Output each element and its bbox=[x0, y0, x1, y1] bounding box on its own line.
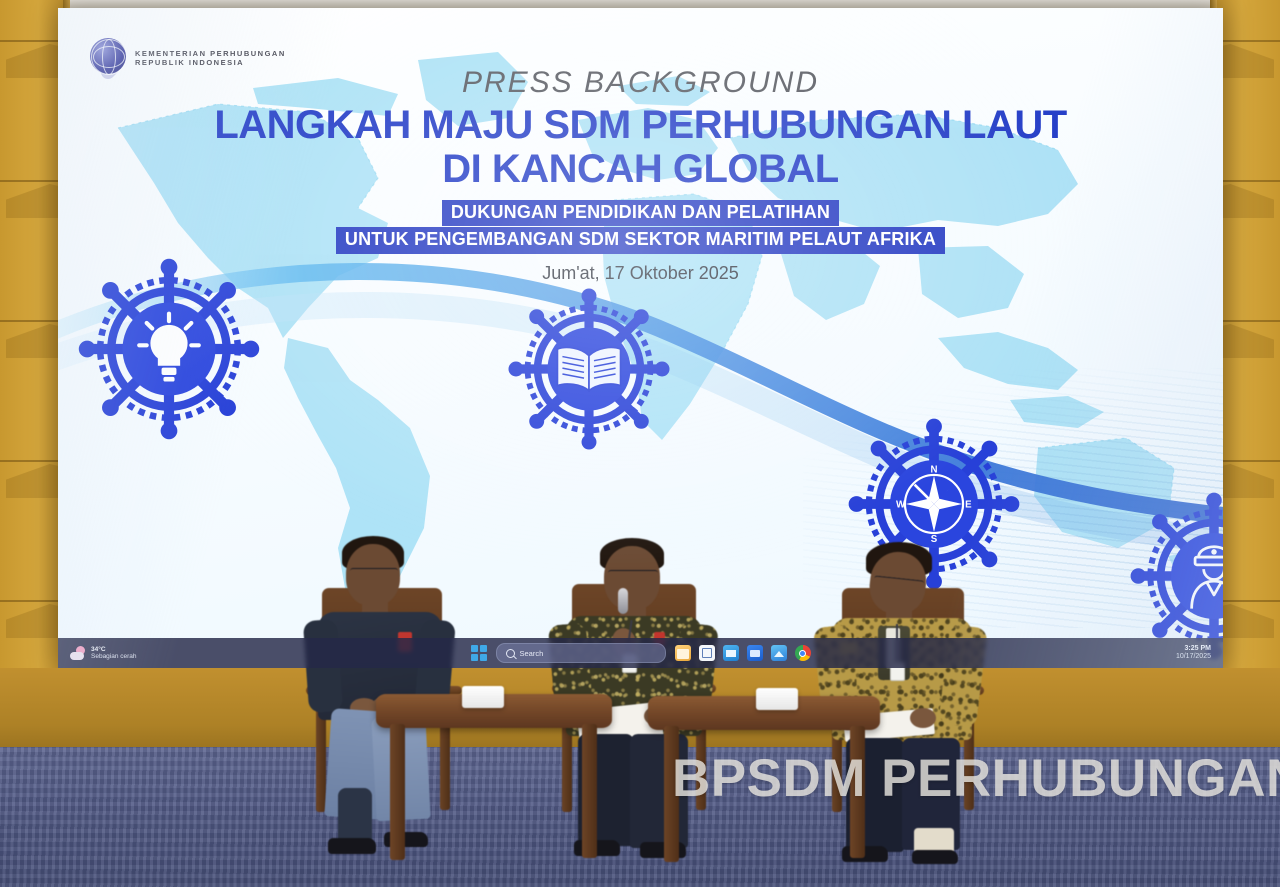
search-placeholder: Search bbox=[520, 649, 544, 658]
search-input[interactable]: Search bbox=[496, 643, 666, 663]
svg-text:E: E bbox=[965, 500, 972, 511]
svg-text:W: W bbox=[896, 500, 906, 511]
svg-text:N: N bbox=[931, 464, 938, 475]
screenshot-stage: KEMENTERIAN PERHUBUNGAN REPUBLIK INDONES… bbox=[0, 0, 1280, 887]
slide-eyebrow: PRESS BACKGROUND bbox=[58, 66, 1223, 100]
mail-icon[interactable] bbox=[723, 645, 739, 661]
tissue-box-left bbox=[462, 686, 504, 708]
weather-temperature: 34°C bbox=[91, 646, 137, 653]
microphone bbox=[618, 588, 628, 614]
clock-time: 3:25 PM bbox=[1176, 645, 1211, 653]
slide-highlight-line1: DUKUNGAN PENDIDIKAN DAN PELATIHAN bbox=[442, 200, 839, 227]
search-icon bbox=[506, 649, 515, 658]
slide-title-line1: LANGKAH MAJU SDM PERHUBUNGAN LAUT bbox=[58, 104, 1223, 146]
taskbar-weather-widget[interactable]: 34°C Sebagian cerah bbox=[70, 646, 137, 660]
watermark: BPSDM PERHUBUNGAN bbox=[672, 748, 1280, 809]
slide-highlight-line2: UNTUK PENGEMBANGAN SDM SEKTOR MARITIM PE… bbox=[336, 227, 945, 254]
chrome-icon[interactable] bbox=[795, 645, 811, 661]
slide-title-line2: DI KANCAH GLOBAL bbox=[58, 146, 1223, 193]
photos-icon[interactable] bbox=[771, 645, 787, 661]
microsoft-store-icon[interactable] bbox=[699, 645, 715, 661]
taskbar-app-icons[interactable] bbox=[675, 645, 811, 661]
start-icon[interactable] bbox=[471, 645, 487, 661]
clock-date: 10/17/2025 bbox=[1176, 653, 1211, 661]
slide-title-block: PRESS BACKGROUND LANGKAH MAJU SDM PERHUB… bbox=[58, 66, 1223, 284]
ship-wheel-lightbulb bbox=[76, 256, 262, 442]
weather-condition: Sebagian cerah bbox=[91, 653, 137, 660]
taskbar-clock[interactable]: 3:25 PM 10/17/2025 bbox=[1176, 645, 1211, 661]
tissue-box-right bbox=[756, 688, 798, 710]
ship-wheel-sailor bbox=[1128, 490, 1223, 662]
partly-cloudy-icon bbox=[70, 646, 86, 660]
side-table-left bbox=[376, 694, 612, 870]
ship-wheel-book bbox=[506, 286, 672, 452]
file-explorer-icon[interactable] bbox=[675, 645, 691, 661]
ministry-logo-line1: KEMENTERIAN PERHUBUNGAN bbox=[135, 49, 286, 58]
windows-taskbar[interactable]: 34°C Sebagian cerah Search bbox=[58, 638, 1223, 668]
outlook-icon[interactable] bbox=[747, 645, 763, 661]
